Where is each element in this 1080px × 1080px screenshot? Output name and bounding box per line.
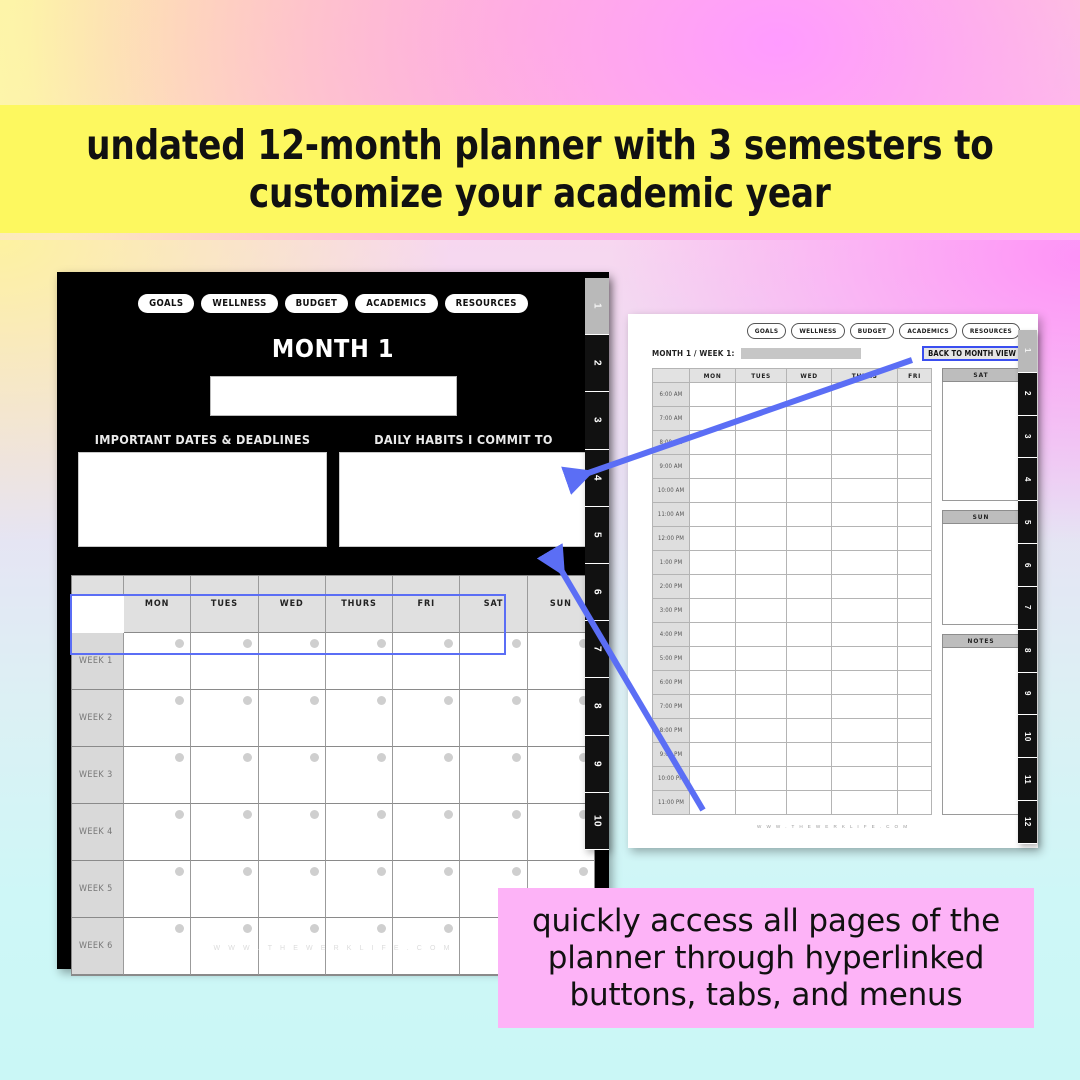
- week-slot-cell[interactable]: [787, 407, 832, 431]
- week-page-footer: W W W . T H E W E R K L I F E . C O M: [628, 824, 1038, 829]
- caption-line-1: quickly access all pages of the: [532, 903, 1000, 940]
- week-page-side-tabs[interactable]: 123456789101112: [1018, 330, 1037, 844]
- time-label: 10:00 PM: [653, 767, 690, 791]
- nav-button-wellness[interactable]: WELLNESS: [201, 294, 277, 313]
- calendar-day-cell[interactable]: [393, 861, 460, 918]
- side-panel-notes: NOTES: [942, 634, 1020, 815]
- week-slot-cell[interactable]: [787, 455, 832, 479]
- nav-button-budget[interactable]: BUDGET: [285, 294, 349, 313]
- month-nav-bar: GOALS WELLNESS BUDGET ACADEMICS RESOURCE…: [57, 272, 609, 313]
- headline-line-2: customize your academic year: [249, 169, 831, 217]
- week-page-tab-10[interactable]: 10: [1018, 715, 1037, 758]
- week-page-tab-9[interactable]: 9: [1018, 673, 1037, 716]
- week-slot-cell[interactable]: [690, 623, 736, 647]
- caption-line-3: buttons, tabs, and menus: [570, 977, 963, 1014]
- week-slot-cell[interactable]: [690, 383, 736, 407]
- calendar-day-cell[interactable]: [259, 690, 326, 747]
- month-title: MONTH 1: [57, 334, 609, 363]
- day-checkbox-icon[interactable]: [377, 696, 386, 705]
- week-label-5[interactable]: WEEK 5: [72, 861, 124, 918]
- week-slot-cell[interactable]: [832, 503, 898, 527]
- time-label: 7:00 AM: [653, 407, 690, 431]
- week-slot-cell[interactable]: [832, 647, 898, 671]
- day-checkbox-icon[interactable]: [512, 810, 521, 819]
- time-label: 8:00 AM: [653, 431, 690, 455]
- caption-box: quickly access all pages of the planner …: [498, 888, 1034, 1028]
- calendar-day-cell[interactable]: [191, 861, 258, 918]
- time-label: 9:00 PM: [653, 743, 690, 767]
- week-page-tab-7[interactable]: 7: [1018, 587, 1037, 630]
- nav-button-goals[interactable]: GOALS: [138, 294, 194, 313]
- calendar-header-row: MON TUES WED THURS FRI SAT SUN: [72, 576, 594, 633]
- day-checkbox-icon[interactable]: [175, 639, 184, 648]
- week-slot-cell[interactable]: [898, 767, 932, 791]
- week-slot-cell[interactable]: [736, 791, 787, 815]
- day-checkbox-icon[interactable]: [175, 753, 184, 762]
- week-slot-cell[interactable]: [690, 551, 736, 575]
- panel-label-row: IMPORTANT DATES & DEADLINES DAILY HABITS…: [78, 432, 588, 447]
- day-checkbox-icon[interactable]: [310, 810, 319, 819]
- week-body: MON TUES WED THURS FRI 6:00 AM7:00 AM8:0…: [628, 361, 1038, 815]
- week-grid-row: 4:00 PM: [653, 623, 932, 647]
- calendar-day-cell[interactable]: [326, 633, 393, 690]
- week-slot-cell[interactable]: [690, 671, 736, 695]
- month-page-tab-10[interactable]: 10: [585, 793, 609, 850]
- calendar-week-row: WEEK 1: [72, 633, 594, 690]
- time-label: 6:00 PM: [653, 671, 690, 695]
- day-checkbox-icon[interactable]: [243, 810, 252, 819]
- week-nav-bar: GOALS WELLNESS BUDGET ACADEMICS RESOURCE…: [628, 314, 1038, 339]
- week-grid-row: 1:00 PM: [653, 551, 932, 575]
- week-slot-cell[interactable]: [898, 551, 932, 575]
- week-grid-time-corner: [653, 369, 690, 383]
- calendar-day-cell[interactable]: [191, 804, 258, 861]
- calendar-day-cell[interactable]: [326, 690, 393, 747]
- day-checkbox-icon[interactable]: [175, 924, 184, 933]
- week-page-tab-1[interactable]: 1: [1018, 330, 1037, 373]
- week-slot-cell[interactable]: [787, 431, 832, 455]
- day-checkbox-icon[interactable]: [243, 924, 252, 933]
- time-label: 6:00 AM: [653, 383, 690, 407]
- week-slot-cell[interactable]: [736, 767, 787, 791]
- day-checkbox-icon[interactable]: [243, 639, 252, 648]
- week-page-tab-3[interactable]: 3: [1018, 416, 1037, 459]
- week-slot-cell[interactable]: [832, 479, 898, 503]
- week-slot-cell[interactable]: [898, 431, 932, 455]
- week-grid-row: 5:00 PM: [653, 647, 932, 671]
- month-page-tab-5[interactable]: 5: [585, 507, 609, 564]
- month-page-tab-8[interactable]: 8: [585, 678, 609, 735]
- week-slot-cell[interactable]: [736, 743, 787, 767]
- week-slot-cell[interactable]: [898, 527, 932, 551]
- week-slot-cell[interactable]: [690, 479, 736, 503]
- time-label: 1:00 PM: [653, 551, 690, 575]
- calendar-day-cell[interactable]: [393, 633, 460, 690]
- day-header-thurs: THURS: [326, 576, 393, 633]
- day-checkbox-icon[interactable]: [310, 696, 319, 705]
- day-header-wed: WED: [259, 576, 326, 633]
- day-checkbox-icon[interactable]: [579, 867, 588, 876]
- week-slot-cell[interactable]: [690, 791, 736, 815]
- calendar-day-cell[interactable]: [393, 804, 460, 861]
- week-slot-cell[interactable]: [787, 527, 832, 551]
- week-slot-cell[interactable]: [787, 575, 832, 599]
- week-slot-cell[interactable]: [736, 431, 787, 455]
- week-slot-cell[interactable]: [787, 479, 832, 503]
- month-page-side-tabs[interactable]: 12345678910: [585, 278, 609, 850]
- week-slot-cell[interactable]: [736, 623, 787, 647]
- calendar-day-cell[interactable]: [460, 690, 527, 747]
- week-slot-cell[interactable]: [898, 407, 932, 431]
- week-slot-cell[interactable]: [787, 599, 832, 623]
- week-day-header-tues: TUES: [736, 369, 787, 383]
- calendar-day-cell[interactable]: [460, 633, 527, 690]
- day-header-mon: MON: [124, 576, 191, 633]
- week-slot-cell[interactable]: [832, 575, 898, 599]
- calendar-week-row: WEEK 4: [72, 804, 594, 861]
- week-label-1[interactable]: WEEK 1: [72, 633, 124, 690]
- month-view-page: GOALS WELLNESS BUDGET ACADEMICS RESOURCE…: [57, 272, 609, 969]
- week-slot-cell[interactable]: [898, 503, 932, 527]
- time-label: 3:00 PM: [653, 599, 690, 623]
- week-slot-cell[interactable]: [736, 407, 787, 431]
- week-slot-cell[interactable]: [832, 527, 898, 551]
- week-slot-cell[interactable]: [690, 743, 736, 767]
- week-slot-cell[interactable]: [832, 383, 898, 407]
- nav-button-academics[interactable]: ACADEMICS: [355, 294, 437, 313]
- daily-habits-box[interactable]: [339, 452, 588, 547]
- calendar-day-cell[interactable]: [124, 747, 191, 804]
- day-checkbox-icon[interactable]: [377, 810, 386, 819]
- calendar-day-cell[interactable]: [191, 747, 258, 804]
- day-checkbox-icon[interactable]: [243, 753, 252, 762]
- week-slot-cell[interactable]: [832, 695, 898, 719]
- day-checkbox-icon[interactable]: [444, 810, 453, 819]
- month-page-tab-9[interactable]: 9: [585, 736, 609, 793]
- week-slot-cell[interactable]: [690, 599, 736, 623]
- week-page-tab-2[interactable]: 2: [1018, 373, 1037, 416]
- time-label: 12:00 PM: [653, 527, 690, 551]
- calendar-day-cell[interactable]: [124, 804, 191, 861]
- week-slot-cell[interactable]: [690, 647, 736, 671]
- month-title-input[interactable]: [210, 376, 457, 416]
- side-panel-notes-body[interactable]: [942, 648, 1020, 815]
- side-panel-sat-body[interactable]: [942, 382, 1020, 501]
- week-label-2[interactable]: WEEK 2: [72, 690, 124, 747]
- week-slot-cell[interactable]: [787, 647, 832, 671]
- month-page-tab-6[interactable]: 6: [585, 564, 609, 621]
- week-slot-cell[interactable]: [736, 455, 787, 479]
- week-day-header-thurs: THURS: [832, 369, 898, 383]
- week-slot-cell[interactable]: [736, 479, 787, 503]
- week-slot-cell[interactable]: [690, 695, 736, 719]
- week-slot-cell[interactable]: [736, 599, 787, 623]
- week-slot-cell[interactable]: [690, 455, 736, 479]
- day-checkbox-icon[interactable]: [175, 810, 184, 819]
- week-slot-cell[interactable]: [736, 695, 787, 719]
- week-day-header-wed: WED: [787, 369, 832, 383]
- panel-box-row: [78, 452, 588, 547]
- week-label-4[interactable]: WEEK 4: [72, 804, 124, 861]
- day-checkbox-icon[interactable]: [310, 867, 319, 876]
- day-header-tues: TUES: [191, 576, 258, 633]
- week-slot-cell[interactable]: [832, 455, 898, 479]
- week-grid-row: 11:00 PM: [653, 791, 932, 815]
- week-slot-cell[interactable]: [898, 575, 932, 599]
- side-panel-sun: SUN: [942, 510, 1020, 625]
- week-slot-cell[interactable]: [787, 623, 832, 647]
- week-slot-cell[interactable]: [787, 767, 832, 791]
- week-slot-cell[interactable]: [690, 719, 736, 743]
- time-label: 8:00 PM: [653, 719, 690, 743]
- day-checkbox-icon[interactable]: [175, 867, 184, 876]
- day-checkbox-icon[interactable]: [444, 639, 453, 648]
- side-panel-sun-header: SUN: [942, 510, 1020, 524]
- side-panel-sat-header: SAT: [942, 368, 1020, 382]
- week-grid-row: 10:00 AM: [653, 479, 932, 503]
- day-checkbox-icon[interactable]: [243, 867, 252, 876]
- calendar-day-cell[interactable]: [326, 747, 393, 804]
- month-page-tab-1[interactable]: 1: [585, 278, 609, 335]
- week-grid-row: 8:00 PM: [653, 719, 932, 743]
- week-grid-row: 2:00 PM: [653, 575, 932, 599]
- week-grid-row: 6:00 PM: [653, 671, 932, 695]
- week-page-tab-5[interactable]: 5: [1018, 501, 1037, 544]
- calendar-day-cell[interactable]: [326, 861, 393, 918]
- week-grid-row: 7:00 AM: [653, 407, 932, 431]
- week-slot-cell[interactable]: [787, 695, 832, 719]
- week-breadcrumb-row: MONTH 1 / WEEK 1: BACK TO MONTH VIEW: [628, 339, 1038, 361]
- week-slot-cell[interactable]: [832, 671, 898, 695]
- week-day-header-mon: MON: [690, 369, 736, 383]
- week-nav-button-budget[interactable]: BUDGET: [850, 323, 895, 339]
- calendar-week-row: WEEK 2: [72, 690, 594, 747]
- week-slot-cell[interactable]: [898, 719, 932, 743]
- week-grid-row: 9:00 PM: [653, 743, 932, 767]
- day-checkbox-icon[interactable]: [512, 753, 521, 762]
- week-slot-cell[interactable]: [787, 503, 832, 527]
- week-slot-cell[interactable]: [736, 671, 787, 695]
- week-slot-cell[interactable]: [736, 647, 787, 671]
- week-page-tab-4[interactable]: 4: [1018, 458, 1037, 501]
- week-slot-cell[interactable]: [898, 671, 932, 695]
- week-page-tab-6[interactable]: 6: [1018, 544, 1037, 587]
- day-checkbox-icon[interactable]: [512, 867, 521, 876]
- day-header-fri: FRI: [393, 576, 460, 633]
- week-slot-cell[interactable]: [832, 431, 898, 455]
- week-schedule-grid: MON TUES WED THURS FRI 6:00 AM7:00 AM8:0…: [652, 368, 932, 815]
- week-slot-cell[interactable]: [787, 671, 832, 695]
- time-label: 10:00 AM: [653, 479, 690, 503]
- week-slot-cell[interactable]: [736, 383, 787, 407]
- week-grid-row: 7:00 PM: [653, 695, 932, 719]
- day-checkbox-icon[interactable]: [175, 696, 184, 705]
- week-grid-row: 3:00 PM: [653, 599, 932, 623]
- headline-banner: undated 12-month planner with 3 semester…: [0, 105, 1080, 233]
- day-checkbox-icon[interactable]: [377, 924, 386, 933]
- week-slot-cell[interactable]: [898, 479, 932, 503]
- time-label: 2:00 PM: [653, 575, 690, 599]
- important-dates-label: IMPORTANT DATES & DEADLINES: [78, 432, 327, 447]
- week-slot-cell[interactable]: [898, 599, 932, 623]
- week-slot-cell[interactable]: [832, 623, 898, 647]
- side-panel-notes-header: NOTES: [942, 634, 1020, 648]
- week-slot-cell[interactable]: [690, 767, 736, 791]
- calendar-day-cell[interactable]: [124, 690, 191, 747]
- week-slot-cell[interactable]: [832, 791, 898, 815]
- week-slot-cell[interactable]: [736, 575, 787, 599]
- week-nav-button-wellness[interactable]: WELLNESS: [791, 323, 844, 339]
- day-checkbox-icon[interactable]: [512, 639, 521, 648]
- week-slot-cell[interactable]: [832, 407, 898, 431]
- nav-button-resources[interactable]: RESOURCES: [445, 294, 528, 313]
- week-slot-cell[interactable]: [898, 791, 932, 815]
- week-grid-row: 6:00 AM: [653, 383, 932, 407]
- week-slot-cell[interactable]: [736, 503, 787, 527]
- month-page-tab-2[interactable]: 2: [585, 335, 609, 392]
- day-header-sat: SAT: [460, 576, 527, 633]
- day-checkbox-icon[interactable]: [444, 753, 453, 762]
- week-slot-cell[interactable]: [898, 647, 932, 671]
- week-slot-cell[interactable]: [736, 719, 787, 743]
- week-slot-cell[interactable]: [736, 551, 787, 575]
- week-slot-cell[interactable]: [898, 695, 932, 719]
- calendar-day-cell[interactable]: [124, 861, 191, 918]
- week-slot-cell[interactable]: [832, 551, 898, 575]
- week-slot-cell[interactable]: [832, 599, 898, 623]
- week-grid-row: 8:00 AM: [653, 431, 932, 455]
- week-slot-cell[interactable]: [787, 743, 832, 767]
- calendar-day-cell[interactable]: [393, 747, 460, 804]
- day-checkbox-icon[interactable]: [444, 696, 453, 705]
- calendar-day-cell[interactable]: [191, 690, 258, 747]
- side-panel-sun-body[interactable]: [942, 524, 1020, 625]
- day-checkbox-icon[interactable]: [377, 753, 386, 762]
- important-dates-box[interactable]: [78, 452, 327, 547]
- calendar-day-cell[interactable]: [393, 690, 460, 747]
- side-panel-sat: SAT: [942, 368, 1020, 501]
- calendar-day-cell[interactable]: [259, 861, 326, 918]
- week-slot-cell[interactable]: [787, 383, 832, 407]
- week-label-3[interactable]: WEEK 3: [72, 747, 124, 804]
- time-label: 11:00 AM: [653, 503, 690, 527]
- week-slot-cell[interactable]: [898, 743, 932, 767]
- calendar-corner-cell: [72, 576, 124, 596]
- back-to-month-view-button[interactable]: BACK TO MONTH VIEW: [922, 346, 1022, 361]
- week-slot-cell[interactable]: [690, 407, 736, 431]
- week-page-tab-12[interactable]: 12: [1018, 801, 1037, 844]
- day-checkbox-icon[interactable]: [243, 696, 252, 705]
- calendar-day-cell[interactable]: [259, 747, 326, 804]
- week-slot-cell[interactable]: [787, 719, 832, 743]
- day-checkbox-icon[interactable]: [444, 867, 453, 876]
- week-slot-cell[interactable]: [690, 431, 736, 455]
- day-checkbox-icon[interactable]: [310, 639, 319, 648]
- month-page-tab-7[interactable]: 7: [585, 621, 609, 678]
- week-slot-cell[interactable]: [690, 503, 736, 527]
- day-checkbox-icon[interactable]: [512, 696, 521, 705]
- day-checkbox-icon[interactable]: [377, 867, 386, 876]
- week-side-panels: SAT SUN NOTES: [942, 368, 1020, 815]
- week-slot-cell[interactable]: [690, 527, 736, 551]
- month-page-tab-4[interactable]: 4: [585, 450, 609, 507]
- week-slot-cell[interactable]: [898, 623, 932, 647]
- caption-line-2: planner through hyperlinked: [548, 940, 984, 977]
- calendar-day-cell[interactable]: [326, 804, 393, 861]
- week-grid-row: 11:00 AM: [653, 503, 932, 527]
- calendar-day-cell[interactable]: [259, 633, 326, 690]
- week-grid-row: 12:00 PM: [653, 527, 932, 551]
- week-slot-cell[interactable]: [898, 383, 932, 407]
- week-grid-row: 9:00 AM: [653, 455, 932, 479]
- calendar-day-cell[interactable]: [124, 633, 191, 690]
- week-grid-rows: 6:00 AM7:00 AM8:00 AM9:00 AM10:00 AM11:0…: [653, 383, 932, 815]
- calendar-day-cell[interactable]: [460, 747, 527, 804]
- daily-habits-label: DAILY HABITS I COMMIT TO: [339, 432, 588, 447]
- day-checkbox-icon[interactable]: [310, 753, 319, 762]
- time-label: 4:00 PM: [653, 623, 690, 647]
- week-nav-button-goals[interactable]: GOALS: [747, 323, 787, 339]
- calendar-day-cell[interactable]: [191, 633, 258, 690]
- month-page-tab-3[interactable]: 3: [585, 392, 609, 449]
- week-day-header-fri: FRI: [898, 369, 932, 383]
- day-checkbox-icon[interactable]: [377, 639, 386, 648]
- week-slot-cell[interactable]: [898, 455, 932, 479]
- day-checkbox-icon[interactable]: [310, 924, 319, 933]
- week-nav-button-academics[interactable]: ACADEMICS: [899, 323, 957, 339]
- week-grid-row: 10:00 PM: [653, 767, 932, 791]
- calendar-day-cell[interactable]: [460, 804, 527, 861]
- week-view-page: GOALS WELLNESS BUDGET ACADEMICS RESOURCE…: [628, 314, 1038, 848]
- calendar-week-row: WEEK 3: [72, 747, 594, 804]
- time-label: 9:00 AM: [653, 455, 690, 479]
- week-slot-cell[interactable]: [787, 791, 832, 815]
- week-page-tab-8[interactable]: 8: [1018, 630, 1037, 673]
- week-slot-cell[interactable]: [736, 527, 787, 551]
- week-slot-cell[interactable]: [832, 767, 898, 791]
- week-slot-cell[interactable]: [787, 551, 832, 575]
- time-label: 5:00 PM: [653, 647, 690, 671]
- week-grid-header-row: MON TUES WED THURS FRI: [653, 369, 932, 383]
- calendar-day-cell[interactable]: [259, 804, 326, 861]
- time-label: 7:00 PM: [653, 695, 690, 719]
- breadcrumb-input[interactable]: [741, 348, 861, 359]
- day-checkbox-icon[interactable]: [444, 924, 453, 933]
- week-nav-button-resources[interactable]: RESOURCES: [962, 323, 1020, 339]
- breadcrumb: MONTH 1 / WEEK 1:: [652, 349, 735, 358]
- week-slot-cell[interactable]: [832, 743, 898, 767]
- headline-line-1: undated 12-month planner with 3 semester…: [86, 121, 994, 169]
- week-slot-cell[interactable]: [690, 575, 736, 599]
- week-page-tab-11[interactable]: 11: [1018, 758, 1037, 801]
- week-slot-cell[interactable]: [832, 719, 898, 743]
- time-label: 11:00 PM: [653, 791, 690, 815]
